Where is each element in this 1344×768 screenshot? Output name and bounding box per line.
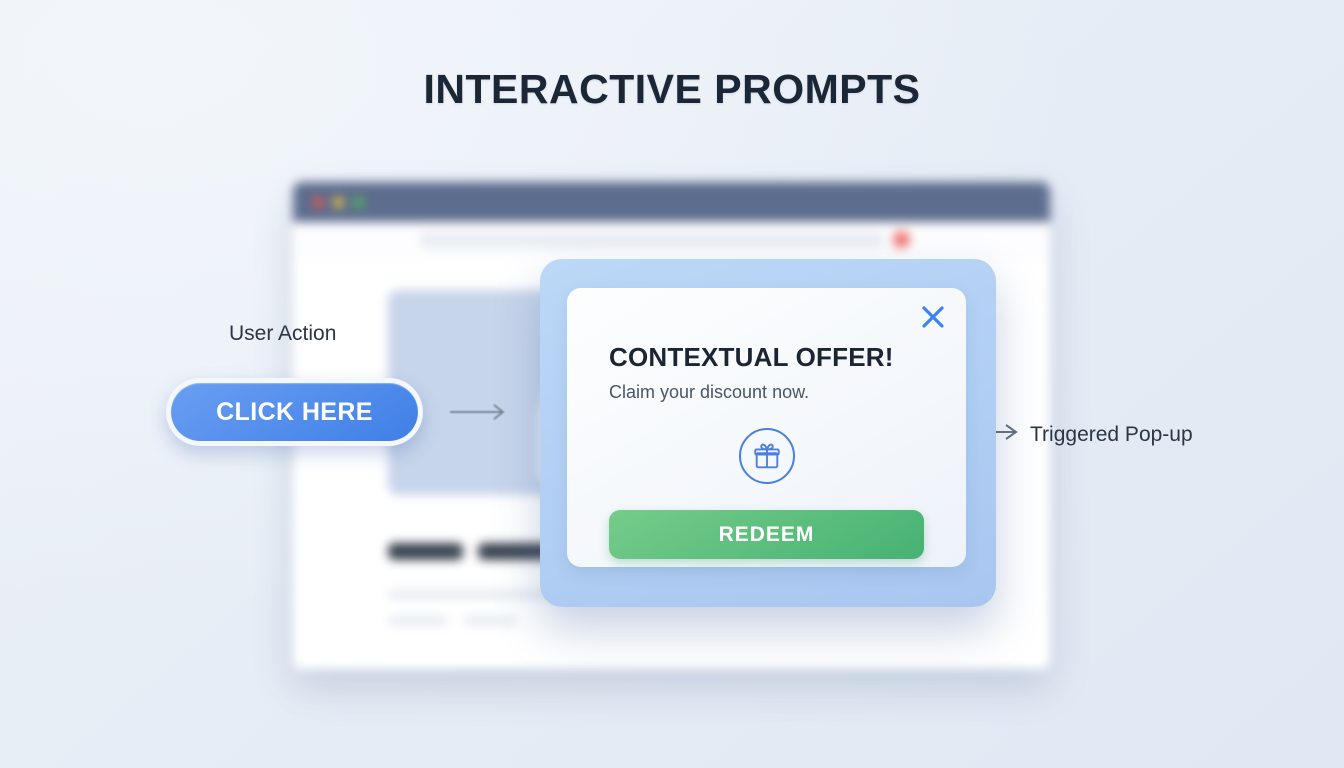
user-action-label: User Action: [229, 322, 336, 346]
browser-titlebar: [293, 182, 1050, 222]
notification-badge-icon[interactable]: [893, 231, 910, 248]
arrow-right-icon: [450, 402, 510, 422]
content-body-line: [463, 616, 518, 625]
triggered-popup-label: Triggered Pop-up: [1030, 423, 1193, 447]
close-icon[interactable]: [920, 304, 946, 330]
content-heading-block: [388, 543, 463, 560]
content-body-line: [388, 616, 448, 625]
window-controls: [313, 197, 364, 208]
close-window-dot[interactable]: [313, 197, 324, 208]
browser-toolbar: [293, 222, 1050, 260]
maximize-window-dot[interactable]: [353, 197, 364, 208]
popup-frame: CONTEXTUAL OFFER! Claim your discount no…: [540, 259, 996, 607]
click-here-label: CLICK HERE: [171, 383, 418, 441]
minimize-window-dot[interactable]: [333, 197, 344, 208]
popup-heading: CONTEXTUAL OFFER!: [609, 342, 934, 373]
redeem-button[interactable]: REDEEM: [609, 510, 924, 559]
popup-card: CONTEXTUAL OFFER! Claim your discount no…: [567, 288, 966, 567]
page-title: INTERACTIVE PROMPTS: [0, 66, 1344, 113]
gift-icon: [739, 428, 795, 484]
click-here-button[interactable]: CLICK HERE: [166, 378, 423, 446]
url-input[interactable]: [419, 232, 884, 248]
popup-subtitle: Claim your discount now.: [609, 382, 934, 403]
gift-icon-container: [567, 428, 966, 484]
